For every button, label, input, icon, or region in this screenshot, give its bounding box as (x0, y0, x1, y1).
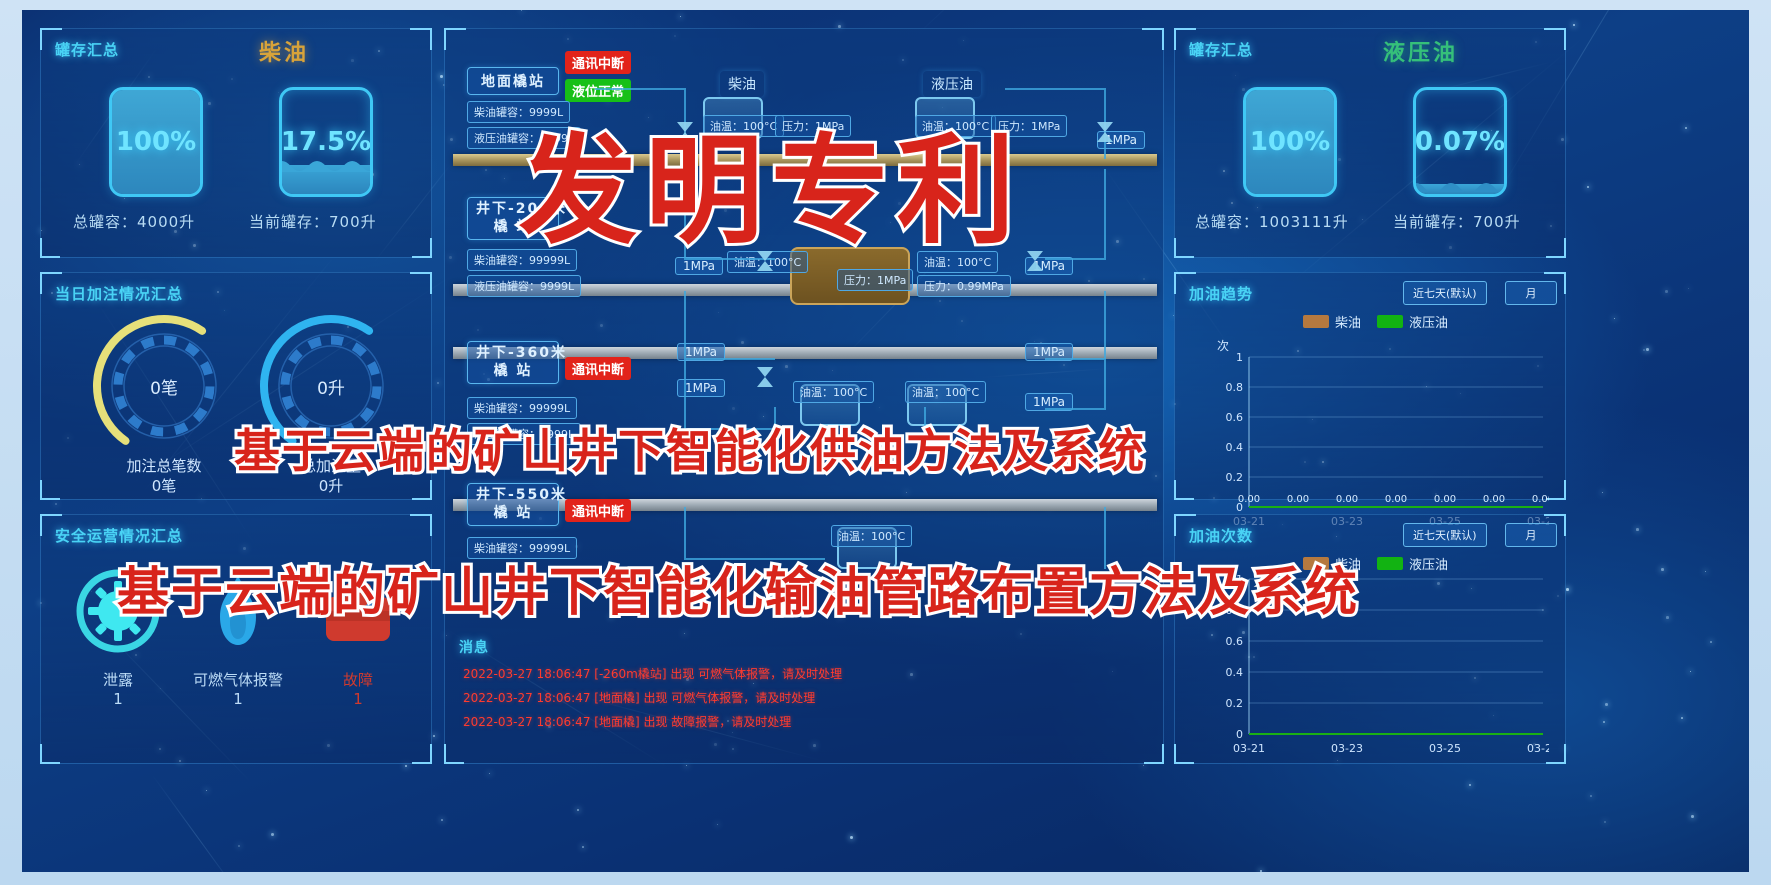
svg-text:03-21: 03-21 (1233, 742, 1265, 755)
product-name-hydraulic: 液压油 (1383, 35, 1458, 67)
svg-text:0.4: 0.4 (1226, 441, 1244, 454)
count-legend-item-hydraulic: 液压油 (1377, 553, 1448, 573)
svg-text:0.6: 0.6 (1226, 635, 1244, 648)
product-name-diesel: 柴油 (259, 35, 309, 67)
refuel-count-title: 加注总笔数 (126, 457, 201, 475)
safety-value-leak: 1 (53, 690, 183, 708)
panel-title-refuel-trend: 加油趋势 (1189, 283, 1253, 304)
sensor-press-3: 压力：1MPa (837, 269, 913, 291)
station-550-name-line1: 井下-550米 (476, 487, 567, 503)
sensor-temp-5: 油温：100°C (793, 381, 874, 403)
trend-range-month-button[interactable]: 月 (1505, 281, 1557, 305)
safety-label-fault: 故障 (293, 669, 423, 690)
trend-legend: 柴油 液压油 (1303, 311, 1448, 331)
sensor-temp-6: 油温：100°C (905, 381, 986, 403)
tank-total-hydraulic-value: 100% (1246, 90, 1334, 194)
station-360-badge-comm: 通讯中断 (565, 357, 631, 380)
count-legend-label-hydraulic: 液压油 (1409, 558, 1448, 573)
hydraulic-current-stock: 当前罐存：700升 (1393, 211, 1521, 232)
panel-title-diesel-stock: 罐存汇总 (55, 39, 119, 60)
panel-refuel-trend: 加油趋势 近七天(默认) 月 柴油 液压油 次 00.20.40.60.8103… (1174, 272, 1566, 500)
tank-current-diesel: 17.5% (279, 87, 373, 197)
count-range-week-button[interactable]: 近七天(默认) (1403, 523, 1487, 547)
trend-legend-item-diesel: 柴油 (1303, 311, 1361, 331)
trend-legend-swatch-hydraulic (1377, 315, 1403, 328)
count-legend-swatch-hydraulic (1377, 557, 1403, 570)
gauge-refuel-count: 0笔 (89, 311, 239, 461)
pressure-tag-5: 1MPa (1025, 343, 1073, 361)
watermark-patent: 发明专利 (519, 95, 1023, 266)
diesel-total-capacity: 总罐容：4000升 (73, 211, 195, 232)
svg-text:03-23: 03-23 (1331, 742, 1363, 755)
refuel-count-sub: 0笔 (152, 477, 177, 495)
station-surface-name[interactable]: 地面橇站 (467, 67, 559, 95)
svg-text:0.00: 0.00 (1385, 494, 1407, 505)
svg-text:0.00: 0.00 (1483, 494, 1505, 505)
panel-title-hydraulic-stock: 罐存汇总 (1189, 39, 1253, 60)
sensor-press-4: 压力：0.99MPa (917, 275, 1011, 297)
svg-text:0.6: 0.6 (1226, 411, 1244, 424)
diesel-current-stock: 当前罐存：700升 (249, 211, 377, 232)
hydraulic-total-capacity: 总罐容：1003111升 (1195, 211, 1349, 232)
tank-total-diesel-value: 100% (112, 90, 200, 194)
messages-title: 消息 (459, 637, 489, 657)
pressure-tag-6: 1MPa (677, 379, 725, 397)
sensor-temp-7: 油温：100°C (831, 525, 912, 547)
station-surface-badge-comm: 通讯中断 (565, 51, 631, 74)
svg-text:0.8: 0.8 (1226, 381, 1244, 394)
station-550-badge-comm: 通讯中断 (565, 499, 631, 522)
dashboard-screen: 罐存汇总 柴油 100% 17.5% 总罐容：4000升 当前罐存：700升 当… (22, 10, 1749, 872)
diagram-header-diesel: 柴油 (720, 71, 764, 97)
station-360-name-line2: 橇 站 (494, 363, 533, 379)
panel-hydraulic-stock: 罐存汇总 液压油 100% 0.07% 总罐容：1003111升 当前罐存：70… (1174, 28, 1566, 258)
svg-text:0.00: 0.00 (1336, 494, 1358, 505)
pressure-tag-4: 1MPa (677, 343, 725, 361)
pressure-tag-7: 1MPa (1025, 393, 1073, 411)
watermark-title-pipeline: 基于云端的矿山井下智能化输油管路布置方法及系统 (117, 550, 1359, 625)
trend-legend-label-diesel: 柴油 (1335, 316, 1361, 331)
svg-text:0.00: 0.00 (1532, 494, 1549, 505)
tank-current-hydraulic: 0.07% (1413, 87, 1507, 197)
tank-total-hydraulic: 100% (1243, 87, 1337, 197)
svg-text:0.00: 0.00 (1238, 494, 1260, 505)
station-360-name-line1: 井下-360米 (476, 345, 567, 361)
safety-label-leak: 泄露 (53, 669, 183, 690)
gauge-refuel-count-label: 加注总笔数 0笔 (74, 456, 254, 497)
panel-title-daily-refuel: 当日加注情况汇总 (55, 283, 183, 304)
svg-text:0.2: 0.2 (1226, 697, 1244, 710)
watermark-title-supply: 基于云端的矿山井下智能化供油方法及系统 (234, 415, 1146, 481)
trend-legend-swatch-diesel (1303, 315, 1329, 328)
svg-text:0.00: 0.00 (1287, 494, 1309, 505)
pressure-tag-3: 1MPa (1025, 257, 1073, 275)
station-360-name[interactable]: 井下-360米 橇 站 (467, 341, 559, 384)
pressure-tag-1: 1MPa (1097, 131, 1145, 149)
gauge-refuel-count-value: 0笔 (89, 311, 239, 461)
trend-range-week-button[interactable]: 近七天(默认) (1403, 281, 1487, 305)
svg-text:0.00: 0.00 (1434, 494, 1456, 505)
station-200-info-hydraulic: 液压油罐容：9999L (467, 275, 581, 297)
station-550-name-line2: 橇 站 (494, 505, 533, 521)
station-550-name[interactable]: 井下-550米 橇 站 (467, 483, 559, 526)
panel-title-refuel-count: 加油次数 (1189, 525, 1253, 546)
app-root: 罐存汇总 柴油 100% 17.5% 总罐容：4000升 当前罐存：700升 当… (0, 0, 1771, 885)
safety-value-gas-alarm: 1 (173, 690, 303, 708)
panel-diesel-stock: 罐存汇总 柴油 100% 17.5% 总罐容：4000升 当前罐存：700升 (40, 28, 432, 258)
safety-value-fault: 1 (293, 690, 423, 708)
svg-text:0.2: 0.2 (1226, 471, 1244, 484)
tank-current-hydraulic-value: 0.07% (1416, 90, 1504, 194)
svg-text:0.4: 0.4 (1226, 666, 1244, 679)
diagram-header-hydraulic: 液压油 (923, 71, 981, 97)
svg-text:03-27: 03-27 (1527, 742, 1549, 755)
message-line-3: 2022-03-27 18:06:47 [地面橇] 出现 故障报警，请及时处理 (463, 713, 791, 730)
message-line-2: 2022-03-27 18:06:47 [地面橇] 出现 可燃气体报警，请及时处… (463, 689, 815, 706)
count-range-month-button[interactable]: 月 (1505, 523, 1557, 547)
trend-legend-item-hydraulic: 液压油 (1377, 311, 1448, 331)
tank-total-diesel: 100% (109, 87, 203, 197)
svg-text:1: 1 (1236, 351, 1243, 364)
tank-current-diesel-value: 17.5% (282, 90, 370, 194)
safety-label-gas-alarm: 可燃气体报警 (173, 669, 303, 690)
panel-title-safety: 安全运营情况汇总 (55, 525, 183, 546)
trend-legend-label-hydraulic: 液压油 (1409, 316, 1448, 331)
message-line-1: 2022-03-27 18:06:47 [-260m橇站] 出现 可燃气体报警，… (463, 665, 842, 682)
svg-text:0: 0 (1236, 728, 1243, 741)
svg-text:03-25: 03-25 (1429, 742, 1461, 755)
